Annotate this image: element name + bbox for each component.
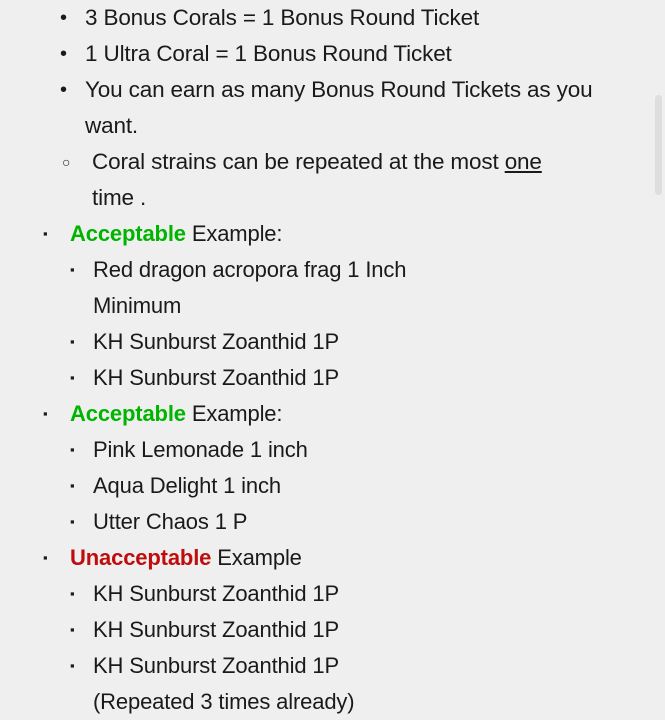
list-item: ▪ KH Sunburst Zoanthid 1P (Repeated 3 ti…: [70, 648, 665, 720]
list-item: ▪ KH Sunburst Zoanthid 1P: [70, 576, 665, 612]
list-item: ▪ Utter Chaos 1 P: [70, 504, 665, 540]
list-item: • 3 Bonus Corals = 1 Bonus Round Ticket: [60, 0, 665, 36]
unacceptable-example-heading: ▪ Unacceptable Example: [43, 540, 665, 576]
acceptable-example-2-label: Acceptable Example:: [70, 396, 480, 432]
list-item: • 1 Ultra Coral = 1 Bonus Round Ticket: [60, 36, 665, 72]
example-word: Example:: [186, 221, 282, 246]
square-bullet-icon: ▪: [70, 324, 96, 360]
unacceptable-badge: Unacceptable: [70, 545, 211, 570]
square-bullet-icon: ▪: [70, 432, 96, 468]
acceptable-example-1-heading: ▪ Acceptable Example:: [43, 216, 665, 252]
list-item: ▪ Pink Lemonade 1 inch: [70, 432, 665, 468]
square-bullet-icon: ▪: [70, 576, 96, 612]
rules-list-level-2: ○ Coral strains can be repeated at the m…: [0, 144, 665, 216]
scrollbar-thumb[interactable]: [655, 95, 662, 195]
coral-entry: Utter Chaos 1 P: [93, 504, 438, 540]
example-word: Example: [211, 545, 302, 570]
list-item: ○ Coral strains can be repeated at the m…: [62, 144, 665, 216]
list-item: ▪ KH Sunburst Zoanthid 1P: [70, 324, 665, 360]
acceptable-badge: Acceptable: [70, 221, 186, 246]
rule-3-text: You can earn as many Bonus Round Tickets…: [85, 72, 630, 144]
square-bullet-icon: ▪: [70, 360, 96, 396]
square-bullet-icon: ▪: [70, 468, 96, 504]
unacceptable-example-items: ▪ KH Sunburst Zoanthid 1P ▪ KH Sunburst …: [0, 576, 665, 720]
acceptable-example-1-label: Acceptable Example:: [70, 216, 480, 252]
square-bullet-icon: ▪: [70, 612, 96, 648]
list-item: ▪ Aqua Delight 1 inch: [70, 468, 665, 504]
acceptable-badge: Acceptable: [70, 401, 186, 426]
coral-entry: Pink Lemonade 1 inch: [93, 432, 438, 468]
square-bullet-icon: ▪: [70, 252, 96, 288]
square-bullet-icon: ▪: [70, 504, 96, 540]
acceptable-example-1-items: ▪ Red dragon acropora frag 1 Inch Minimu…: [0, 252, 665, 396]
square-bullet-icon: ▪: [43, 396, 69, 432]
rule-2-text: 1 Ultra Coral = 1 Bonus Round Ticket: [85, 36, 630, 72]
coral-entry: KH Sunburst Zoanthid 1P: [93, 324, 438, 360]
coral-entry: KH Sunburst Zoanthid 1P: [93, 360, 438, 396]
coral-entry: KH Sunburst Zoanthid 1P (Repeated 3 time…: [93, 648, 438, 720]
example-list-level-3: ▪ Acceptable Example:: [0, 396, 665, 432]
square-bullet-icon: ▪: [43, 216, 69, 252]
coral-entry: KH Sunburst Zoanthid 1P: [93, 612, 438, 648]
unacceptable-example-label: Unacceptable Example: [70, 540, 480, 576]
circle-bullet-icon: ○: [62, 144, 88, 180]
scrollbar-track[interactable]: [652, 0, 665, 720]
disc-bullet-icon: •: [60, 36, 86, 72]
repeat-rule-prefix: Coral strains can be repeated at the mos…: [92, 149, 505, 174]
rules-list-level-1: • 3 Bonus Corals = 1 Bonus Round Ticket …: [0, 0, 665, 144]
acceptable-example-2-items: ▪ Pink Lemonade 1 inch ▪ Aqua Delight 1 …: [0, 432, 665, 540]
rule-1-text: 3 Bonus Corals = 1 Bonus Round Ticket: [85, 0, 630, 36]
example-list-level-3: ▪ Unacceptable Example: [0, 540, 665, 576]
coral-entry: Aqua Delight 1 inch: [93, 468, 438, 504]
coral-entry: KH Sunburst Zoanthid 1P: [93, 576, 438, 612]
repeat-rule-emphasis: one: [505, 149, 542, 174]
example-word: Example:: [186, 401, 282, 426]
coral-entry: Red dragon acropora frag 1 Inch Minimum: [93, 252, 438, 324]
document-body: • 3 Bonus Corals = 1 Bonus Round Ticket …: [0, 0, 665, 720]
repeat-rule-text: Coral strains can be repeated at the mos…: [92, 144, 570, 216]
list-item: ▪ KH Sunburst Zoanthid 1P: [70, 612, 665, 648]
disc-bullet-icon: •: [60, 72, 86, 108]
list-item: • You can earn as many Bonus Round Ticke…: [60, 72, 665, 144]
repeat-rule-suffix: time .: [92, 185, 146, 210]
example-list-level-3: ▪ Acceptable Example:: [0, 216, 665, 252]
square-bullet-icon: ▪: [43, 540, 69, 576]
acceptable-example-2-heading: ▪ Acceptable Example:: [43, 396, 665, 432]
list-item: ▪ KH Sunburst Zoanthid 1P: [70, 360, 665, 396]
disc-bullet-icon: •: [60, 0, 86, 36]
square-bullet-icon: ▪: [70, 648, 96, 684]
list-item: ▪ Red dragon acropora frag 1 Inch Minimu…: [70, 252, 665, 324]
